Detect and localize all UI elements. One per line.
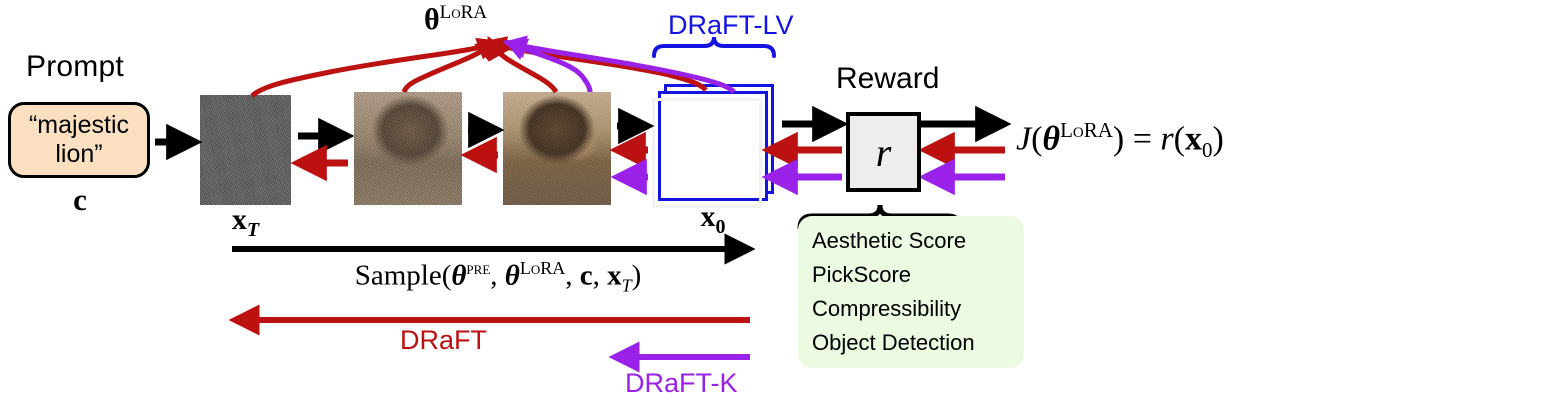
x-0-base: x [701, 200, 716, 233]
final-panel [652, 98, 762, 208]
x-0-sub: 0 [716, 216, 726, 238]
reward-function-item: PickScore [812, 258, 1024, 292]
theta-superscript: LoRA [440, 2, 487, 23]
reward-functions-list: Aesthetic Score PickScore Compressibilit… [798, 216, 1024, 368]
theta-lora-label: θLoRA [424, 2, 487, 37]
x-0-label: x0 [652, 200, 774, 239]
draft-label: DRaFT [400, 325, 487, 356]
reward-function-item: Aesthetic Score [812, 224, 1024, 258]
intermediate-panel-1 [354, 92, 462, 205]
objective-equation: J(θLoRA) = r(x0) [1016, 118, 1224, 163]
draft-lv-label: DRaFT-LV [668, 10, 794, 41]
reward-label: Reward [836, 62, 939, 96]
x-t-label: xT [200, 203, 291, 242]
intermediate-panel-2 [503, 92, 611, 205]
x-t-sub: T [247, 219, 259, 241]
theta-symbol: θ [424, 3, 440, 36]
prompt-box[interactable]: “majestic lion” [8, 102, 150, 178]
noise-panel [200, 95, 291, 205]
draft-k-label: DRaFT-K [625, 368, 738, 399]
prompt-symbol: c [0, 182, 160, 218]
sample-equation: Sample(θpre, θLoRA, c, xT) [238, 258, 758, 296]
reward-function-item: Object Detection [812, 326, 1024, 360]
reward-function-item: Compressibility [812, 292, 1024, 326]
final-panel-stack [652, 84, 774, 208]
prompt-label: Prompt [26, 50, 124, 84]
reward-box: r [846, 112, 921, 192]
x-t-base: x [232, 203, 247, 236]
